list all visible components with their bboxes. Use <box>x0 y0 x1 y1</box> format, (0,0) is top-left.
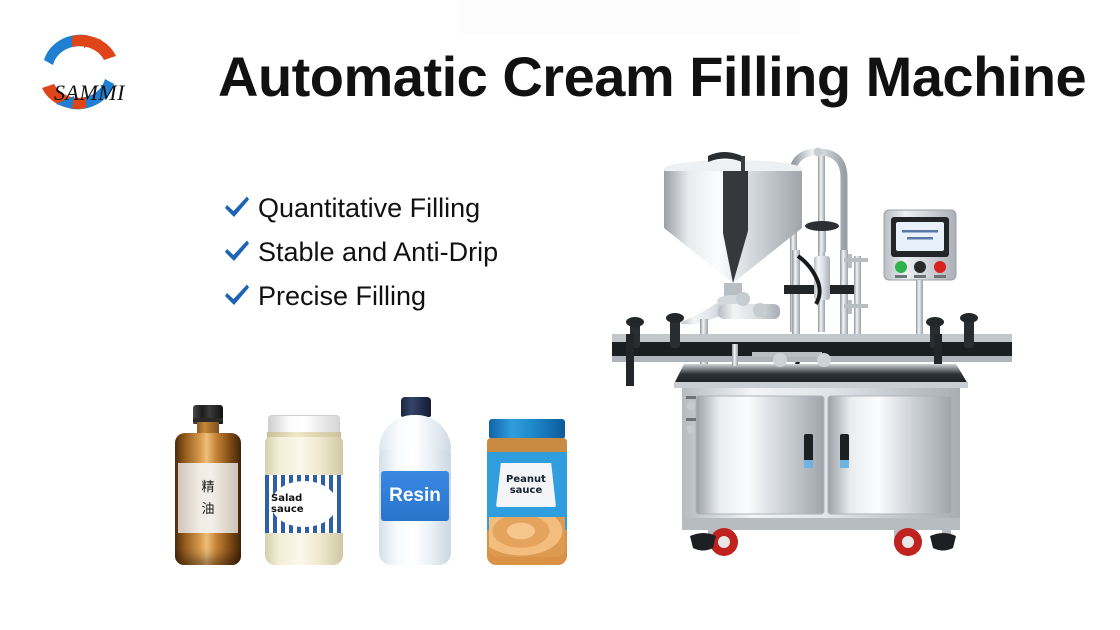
rail-knob <box>666 313 684 323</box>
feature-item-3: Precise Filling <box>222 274 498 318</box>
label-line-1: Peanut <box>506 474 546 486</box>
peanut-swirl-graphic <box>489 517 565 557</box>
jar-cap <box>268 415 340 433</box>
product-sample-row: 精 油 Salad sauce Resin P <box>160 380 610 565</box>
peanut-sauce-jar: Peanut sauce <box>485 419 569 565</box>
stainless-conical-hopper <box>664 152 802 299</box>
jar-cap <box>489 419 565 439</box>
leveling-foot <box>690 533 716 551</box>
essential-oil-bottle: 精 油 <box>172 405 244 565</box>
worktop <box>674 364 968 388</box>
hmi-touch-screen <box>896 222 944 251</box>
product-banner: SAMMI Automatic Cream Filling Machine Qu… <box>0 0 1120 630</box>
feature-list: Quantitative Filling Stable and Anti-Dri… <box>222 186 498 318</box>
logo-wordmark: SAMMI <box>54 80 125 106</box>
rail-knob <box>626 317 644 327</box>
bottle-label: Resin <box>381 471 449 521</box>
nozzle-body <box>718 304 780 319</box>
label-line-1: 精 <box>201 481 214 494</box>
page-title: Automatic Cream Filling Machine <box>218 46 1048 108</box>
handwheel <box>805 221 839 231</box>
feature-label: Precise Filling <box>258 281 426 312</box>
label-line-2: sauce <box>510 485 543 497</box>
rail-knob <box>960 313 978 323</box>
feature-label: Stable and Anti-Drip <box>258 237 498 268</box>
feature-item-2: Stable and Anti-Drip <box>222 230 498 274</box>
leveling-foot <box>930 533 956 551</box>
label-text: Resin <box>389 485 441 507</box>
check-mark-icon <box>222 193 252 223</box>
label-line-2: 油 <box>201 503 214 516</box>
top-background-wash <box>460 0 800 34</box>
filling-machine-photo <box>612 138 1012 568</box>
start-button <box>895 261 907 273</box>
feature-label: Quantitative Filling <box>258 193 480 224</box>
side-switch <box>687 402 695 410</box>
jar-label: Peanut sauce <box>496 463 556 507</box>
jar-label: Salad sauce <box>271 481 337 527</box>
pipe-joint <box>814 148 823 157</box>
check-mark-icon <box>222 281 252 311</box>
feature-item-1: Quantitative Filling <box>222 186 498 230</box>
brand-logo: SAMMI <box>24 26 134 118</box>
bottle-cap <box>401 397 431 417</box>
salad-sauce-jar: Salad sauce <box>263 415 345 565</box>
side-switch <box>687 425 695 433</box>
control-panel[interactable] <box>884 210 956 344</box>
bottle-label: 精 油 <box>178 463 238 533</box>
check-mark-icon <box>222 237 252 267</box>
label-text: Salad sauce <box>271 493 337 515</box>
mode-button <box>914 261 926 273</box>
stainless-cabinet <box>682 388 960 530</box>
rail-bracket <box>626 334 634 386</box>
stop-button <box>934 261 946 273</box>
resin-bottle: Resin <box>375 397 455 565</box>
rail-knob <box>926 317 944 327</box>
